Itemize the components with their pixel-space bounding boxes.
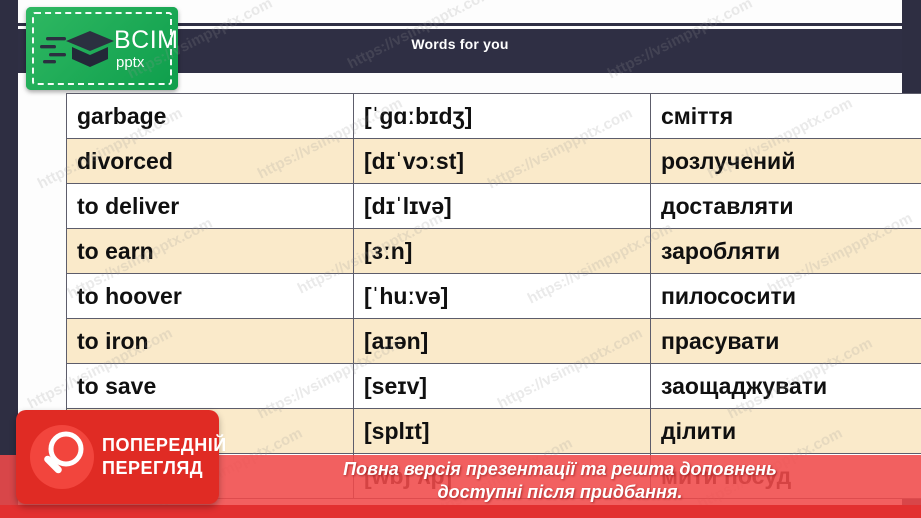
graduation-cap-icon <box>64 29 116 69</box>
table-row: to save [seɪv] заощаджувати <box>67 364 921 409</box>
purchase-banner-line2: доступні після придбання. <box>230 481 890 504</box>
table-row: to earn [ɜːn] заробляти <box>67 229 921 274</box>
logo-name: BCIM <box>114 27 178 53</box>
cell-transcription: [splɪt] <box>354 409 651 454</box>
cell-translation: ділити <box>651 409 921 454</box>
cell-word: to earn <box>67 229 354 274</box>
table-row: garbage [ˈgɑːbɪdʒ] сміття <box>67 94 921 139</box>
cell-transcription: [aɪən] <box>354 319 651 364</box>
preview-badge-line2: ПЕРЕГЛЯД <box>102 457 227 480</box>
cell-transcription: [dɪˈvɔːst] <box>354 139 651 184</box>
cell-translation: розлучений <box>651 139 921 184</box>
preview-badge[interactable]: ПОПЕРЕДНІЙ ПЕРЕГЛЯД <box>16 410 219 504</box>
preview-badge-line1: ПОПЕРЕДНІЙ <box>102 434 227 457</box>
cell-word: to hoover <box>67 274 354 319</box>
cell-translation: заощаджувати <box>651 364 921 409</box>
cell-word: to save <box>67 364 354 409</box>
table-row: to deliver [dɪˈlɪvə] доставляти <box>67 184 921 229</box>
cell-translation: доставляти <box>651 184 921 229</box>
cell-translation: заробляти <box>651 229 921 274</box>
cell-transcription: [ɜːn] <box>354 229 651 274</box>
cell-translation: пилососити <box>651 274 921 319</box>
preview-badge-text: ПОПЕРЕДНІЙ ПЕРЕГЛЯД <box>102 434 227 480</box>
cell-transcription: [seɪv] <box>354 364 651 409</box>
cell-transcription: [ˈgɑːbɪdʒ] <box>354 94 651 139</box>
cell-word: to iron <box>67 319 354 364</box>
cell-transcription: [ˈhuːvə] <box>354 274 651 319</box>
table-row: divorced [dɪˈvɔːst] розлучений <box>67 139 921 184</box>
cell-word: garbage <box>67 94 354 139</box>
cell-word: divorced <box>67 139 354 184</box>
table-row: to hoover [ˈhuːvə] пилососити <box>67 274 921 319</box>
bcim-logo[interactable]: BCIM pptx <box>26 7 178 90</box>
cell-translation: прасувати <box>651 319 921 364</box>
cell-word: to deliver <box>67 184 354 229</box>
presentation-slide: Words for you BCIM pptx garbage [ˈgɑːbɪd… <box>0 0 921 518</box>
table-row: to iron [aɪən] прасувати <box>67 319 921 364</box>
speed-lines-icon <box>40 35 66 65</box>
purchase-banner-strip <box>0 505 921 518</box>
purchase-banner-line1: Повна версія презентації та решта доповн… <box>230 458 890 481</box>
logo-subtitle: pptx <box>116 54 144 71</box>
magnifier-icon <box>30 425 94 489</box>
purchase-banner-text: Повна версія презентації та решта доповн… <box>230 458 890 504</box>
cell-translation: сміття <box>651 94 921 139</box>
cell-transcription: [dɪˈlɪvə] <box>354 184 651 229</box>
